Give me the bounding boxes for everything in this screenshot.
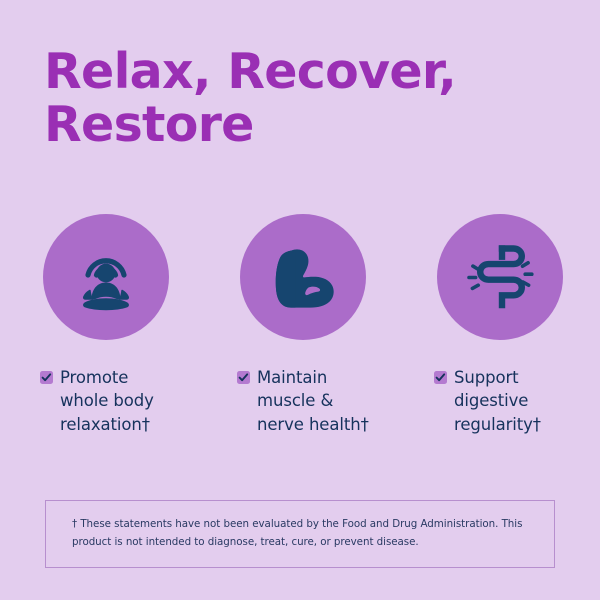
promo-card: Relax, Recover, Restore xyxy=(0,0,600,600)
benefit-label-row-digestive: Support digestive regularity† xyxy=(434,366,541,436)
disclaimer-box: † These statements have not been evaluat… xyxy=(45,500,555,568)
icon-circle-digestive xyxy=(437,214,563,340)
page-title: Relax, Recover, Restore xyxy=(44,46,544,152)
benefit-label-row-muscle: Maintain muscle & nerve health† xyxy=(237,366,369,436)
benefit-label-muscle: Maintain muscle & nerve health† xyxy=(257,366,369,436)
intestines-digestive-icon xyxy=(458,235,542,319)
benefit-item-muscle: Maintain muscle & nerve health† xyxy=(237,214,371,436)
benefit-label-relaxation: Promote whole body relaxation† xyxy=(60,366,154,436)
checkbox-muscle[interactable] xyxy=(237,371,250,384)
benefit-label-digestive: Support digestive regularity† xyxy=(454,366,541,436)
checkbox-relaxation[interactable] xyxy=(40,371,53,384)
benefits-row: Promote whole body relaxation† xyxy=(40,214,568,436)
benefit-item-relaxation: Promote whole body relaxation† xyxy=(40,214,174,436)
icon-circle-relaxation xyxy=(43,214,169,340)
disclaimer-text: † These statements have not been evaluat… xyxy=(72,516,524,551)
checkbox-digestive[interactable] xyxy=(434,371,447,384)
benefit-item-digestive: Support digestive regularity† xyxy=(434,214,568,436)
flexed-bicep-icon xyxy=(261,235,345,319)
benefit-label-row-relaxation: Promote whole body relaxation† xyxy=(40,366,154,436)
meditation-lotus-icon xyxy=(64,235,148,319)
icon-circle-muscle xyxy=(240,214,366,340)
